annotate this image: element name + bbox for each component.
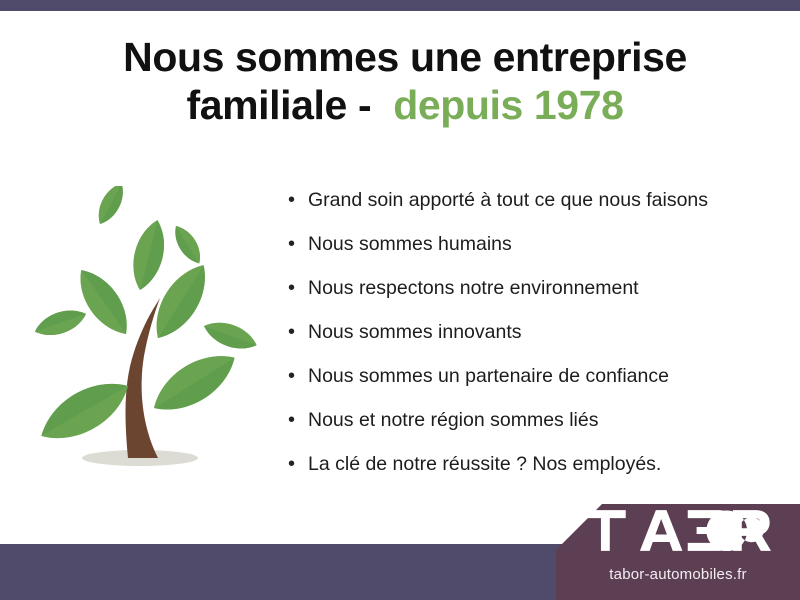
tree-illustration: [8, 186, 280, 492]
values-bullet-list: • Grand soin apporté à tout ce que nous …: [288, 190, 788, 498]
slide-canvas: Nous sommes une entreprise familiale - d…: [0, 0, 800, 600]
list-item: • Nous sommes innovants: [288, 322, 788, 366]
list-item: • Nous et notre région sommes liés: [288, 410, 788, 454]
bullet-marker-icon: •: [288, 278, 308, 298]
page-title: Nous sommes une entreprise familiale - d…: [60, 34, 750, 129]
brand-logo-panel: tabor-automobiles.fr: [556, 504, 800, 600]
list-item-label: Nous sommes humains: [308, 235, 512, 255]
list-item: • Nous respectons notre environnement: [288, 278, 788, 322]
top-accent-bar: [0, 0, 800, 11]
bullet-marker-icon: •: [288, 190, 308, 210]
tree-leaf: [126, 217, 171, 294]
title-line-2-dash: -: [347, 82, 393, 128]
tree-leaf: [32, 304, 90, 341]
list-item-label: La clé de notre réussite ? Nos employés.: [308, 455, 661, 475]
title-line-2-accent: depuis 1978: [393, 82, 623, 128]
list-item-label: Grand soin apporté à tout ce que nous fa…: [308, 191, 708, 211]
bullet-marker-icon: •: [288, 366, 308, 386]
bullet-marker-icon: •: [288, 454, 308, 474]
list-item: • Nous sommes humains: [288, 234, 788, 278]
tree-leaf: [69, 261, 139, 342]
list-item-label: Nous respectons notre environnement: [308, 279, 639, 299]
bullet-marker-icon: •: [288, 410, 308, 430]
title-line-2: familiale - depuis 1978: [60, 82, 750, 130]
tree-leaf: [200, 316, 260, 356]
tree-leaf: [92, 186, 129, 228]
list-item-label: Nous et notre région sommes liés: [308, 411, 598, 431]
list-item-label: Nous sommes innovants: [308, 323, 522, 343]
list-item-label: Nous sommes un partenaire de confiance: [308, 367, 669, 387]
logo-website: tabor-automobiles.fr: [556, 566, 800, 583]
list-item: • Nous sommes un partenaire de confiance: [288, 366, 788, 410]
bullet-marker-icon: •: [288, 322, 308, 342]
list-item: • Grand soin apporté à tout ce que nous …: [288, 190, 788, 234]
title-line-2-prefix: familiale: [186, 82, 346, 128]
tree-leaf: [144, 342, 244, 424]
tree-leaf: [32, 369, 138, 453]
tree-leaf: [169, 221, 207, 267]
logo-wordmark: [556, 510, 800, 556]
list-item: • La clé de notre réussite ? Nos employé…: [288, 454, 788, 498]
tree-trunk: [126, 298, 160, 458]
title-line-1: Nous sommes une entreprise: [60, 34, 750, 82]
bullet-marker-icon: •: [288, 234, 308, 254]
